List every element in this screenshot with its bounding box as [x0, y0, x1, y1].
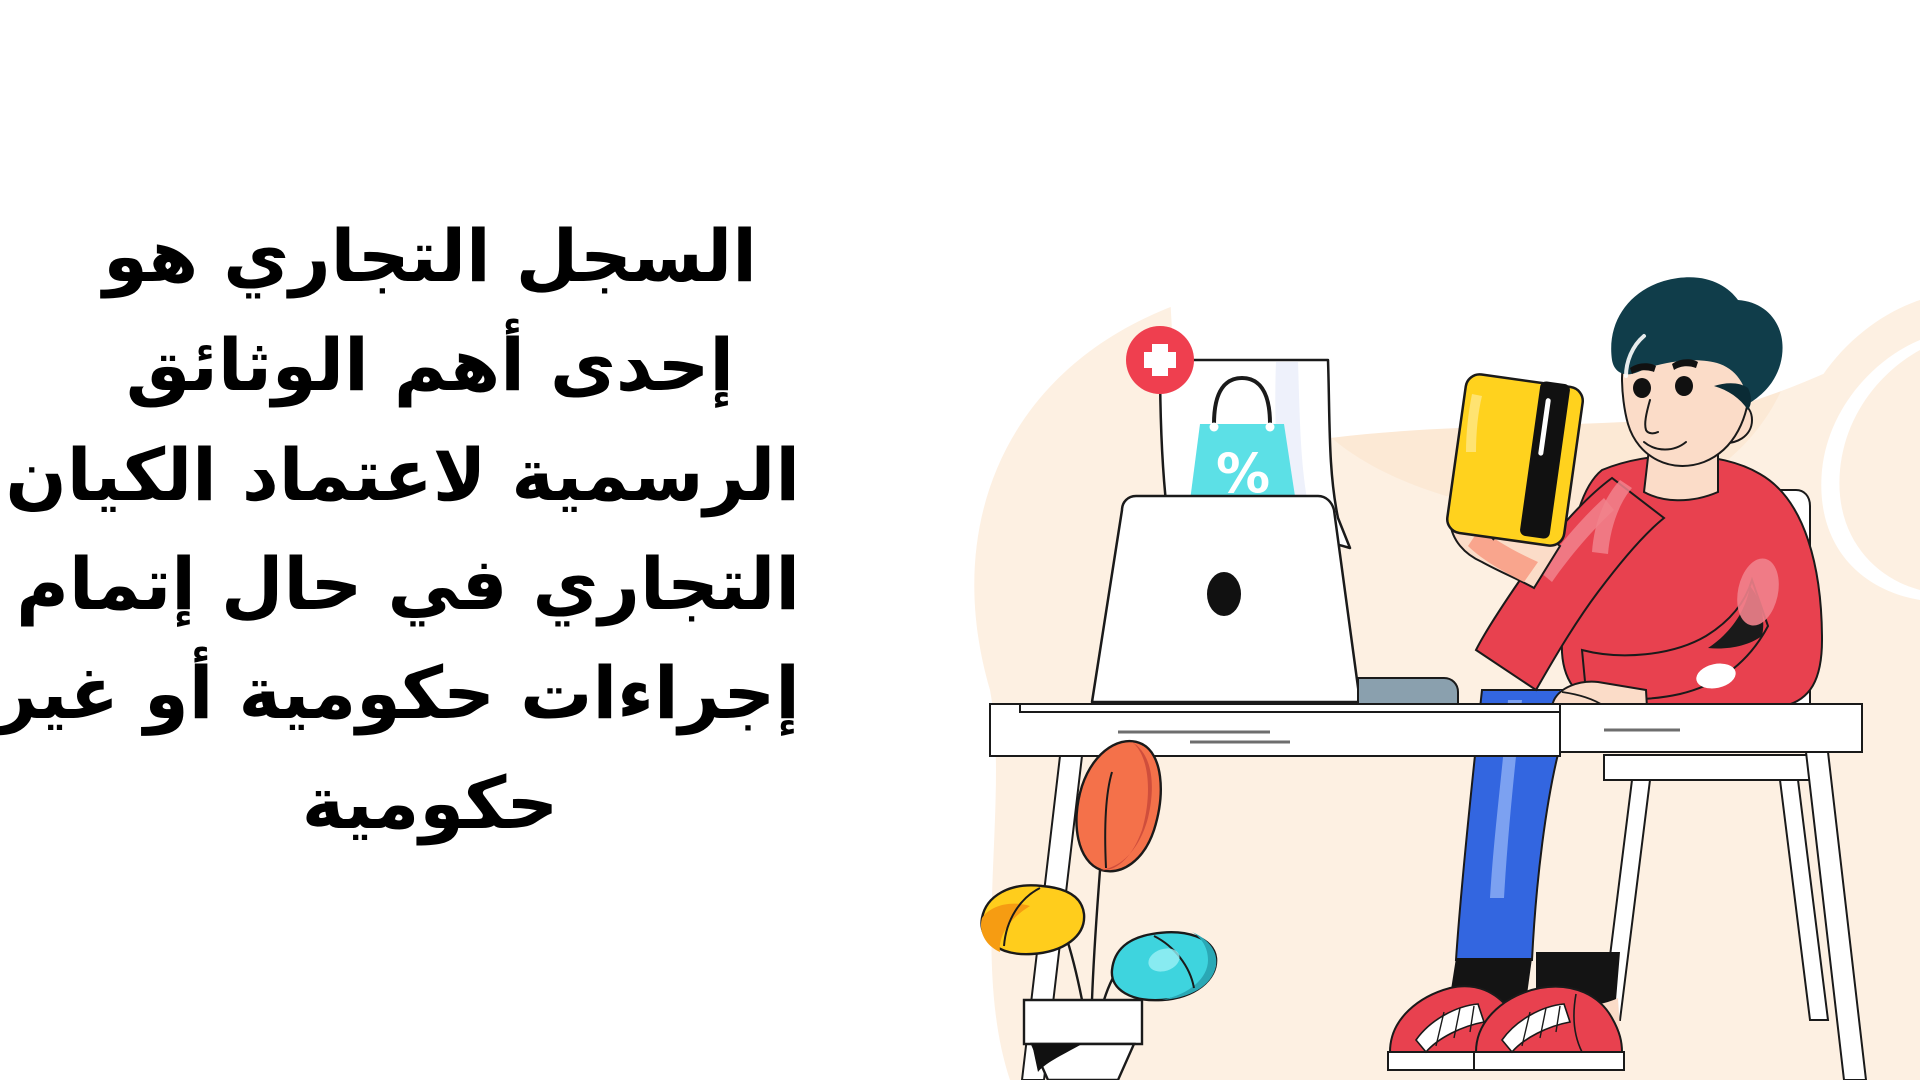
headline-line-2: إحدى أهم الوثائق [60, 311, 800, 420]
shoe-right-sole [1474, 1052, 1624, 1070]
illustration-svg: % [860, 0, 1920, 1080]
chair-seat [1604, 755, 1810, 780]
poster-canvas: السجل التجاري هو إحدى أهم الوثائق الرسمي… [0, 0, 1920, 1080]
headline-line-4: التجاري في حال إتمام أي [60, 530, 800, 639]
headline-panel: السجل التجاري هو إحدى أهم الوثائق الرسمي… [0, 0, 860, 1080]
laptop-base [1358, 678, 1458, 704]
desk-top-edge [1020, 704, 1570, 712]
eye-right [1675, 376, 1693, 396]
plus-badge[interactable] [1126, 326, 1194, 394]
eye-left [1633, 378, 1651, 398]
headline-line-6: حكومية [60, 749, 800, 858]
headline-line-1: السجل التجاري هو [60, 202, 800, 311]
laptop-logo-icon [1207, 572, 1241, 616]
plant-pot-rim [1024, 1000, 1142, 1044]
page-title: السجل التجاري هو إحدى أهم الوثائق الرسمي… [60, 202, 800, 859]
headline-line-5: إجراءات حكومية أو غير [60, 639, 800, 748]
illustration-man-shopping-online: % [860, 0, 1920, 1080]
headline-line-3: الرسمية لاعتماد الكيان [60, 421, 800, 530]
desk-top-right [1560, 704, 1862, 752]
shopping-bag-handle-dot-right [1266, 423, 1275, 432]
plant-leaf-yellow [981, 885, 1084, 954]
shopping-bag-handle-dot-left [1210, 423, 1219, 432]
credit-card[interactable] [1445, 373, 1584, 548]
plant-pot [1024, 1000, 1142, 1080]
